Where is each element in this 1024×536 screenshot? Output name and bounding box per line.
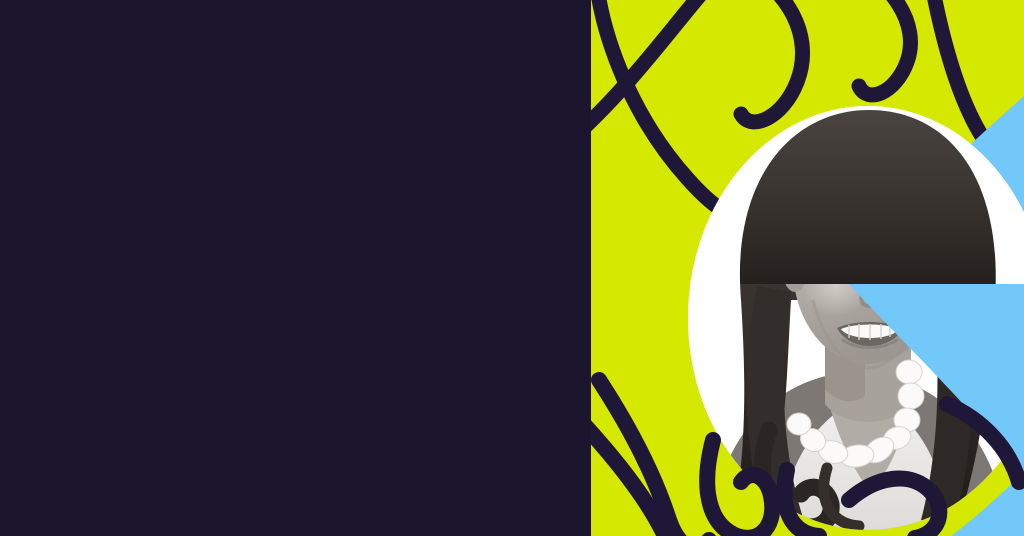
podcast-episode-card: Career Everywhere PODCAST How to Use Dat… bbox=[0, 0, 1024, 536]
left-content-panel bbox=[0, 0, 591, 536]
artwork-composition bbox=[591, 0, 1024, 536]
artwork-panel bbox=[591, 0, 1024, 536]
